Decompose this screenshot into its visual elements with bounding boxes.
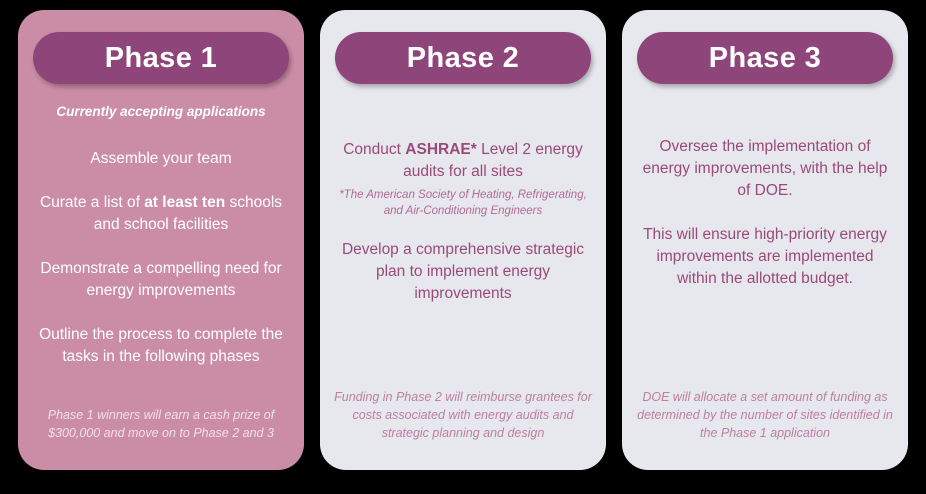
paragraph: Develop a comprehensive strategic plan t… xyxy=(333,239,593,305)
paragraph: Curate a list of at least ten schools an… xyxy=(31,192,291,236)
phase-3-body: Oversee the implementation of energy imp… xyxy=(635,84,895,388)
paragraph-text: Demonstrate a compelling need for energy… xyxy=(40,260,281,299)
phase-2-footnote: Funding in Phase 2 will reimburse grante… xyxy=(332,388,594,470)
phase-2-header-pill: Phase 2 xyxy=(335,32,591,84)
paragraph: This will ensure high-priority energy im… xyxy=(635,224,895,290)
paragraph-text: Curate a list of xyxy=(40,194,144,211)
phase-2-title: Phase 2 xyxy=(407,44,519,73)
paragraph-text: Assemble your team xyxy=(90,150,231,167)
paragraph: Oversee the implementation of energy imp… xyxy=(635,136,895,202)
phase-2-body: Conduct ASHRAE* Level 2 energy audits fo… xyxy=(333,84,593,388)
paragraph-text: Outline the process to complete the task… xyxy=(39,326,283,365)
phase-3-title: Phase 3 xyxy=(709,44,821,73)
paragraph-emphasis: at least ten xyxy=(144,194,225,211)
phase-3-footnote: DOE will allocate a set amount of fundin… xyxy=(634,388,896,470)
paragraph-text: Develop a comprehensive strategic plan t… xyxy=(342,241,584,302)
phase-card-1: Phase 1 Currently accepting applications… xyxy=(18,10,304,470)
paragraph-emphasis: ASHRAE* xyxy=(405,141,476,158)
paragraph-text: Conduct xyxy=(343,141,405,158)
phase-1-subtitle: Currently accepting applications xyxy=(56,104,265,120)
phase-card-2: Phase 2 Conduct ASHRAE* Level 2 energy a… xyxy=(320,10,606,470)
phase-card-3: Phase 3 Oversee the implementation of en… xyxy=(622,10,908,470)
paragraph: Outline the process to complete the task… xyxy=(31,324,291,368)
phase-1-header-pill: Phase 1 xyxy=(33,32,289,84)
paragraph: Conduct ASHRAE* Level 2 energy audits fo… xyxy=(333,139,593,183)
phases-board: Phase 1 Currently accepting applications… xyxy=(0,0,926,494)
paragraph-note: *The American Society of Heating, Refrig… xyxy=(333,187,593,219)
phase-1-title: Phase 1 xyxy=(105,44,217,73)
paragraph: Assemble your team xyxy=(31,148,291,170)
phase-3-header-pill: Phase 3 xyxy=(637,32,893,84)
paragraph-text: This will ensure high-priority energy im… xyxy=(643,226,887,287)
phase-1-footnote: Phase 1 winners will earn a cash prize o… xyxy=(30,406,292,470)
paragraph: Demonstrate a compelling need for energy… xyxy=(31,258,291,302)
paragraph-text: Oversee the implementation of energy imp… xyxy=(643,138,888,199)
phase-1-body: Assemble your teamCurate a list of at le… xyxy=(31,120,291,406)
